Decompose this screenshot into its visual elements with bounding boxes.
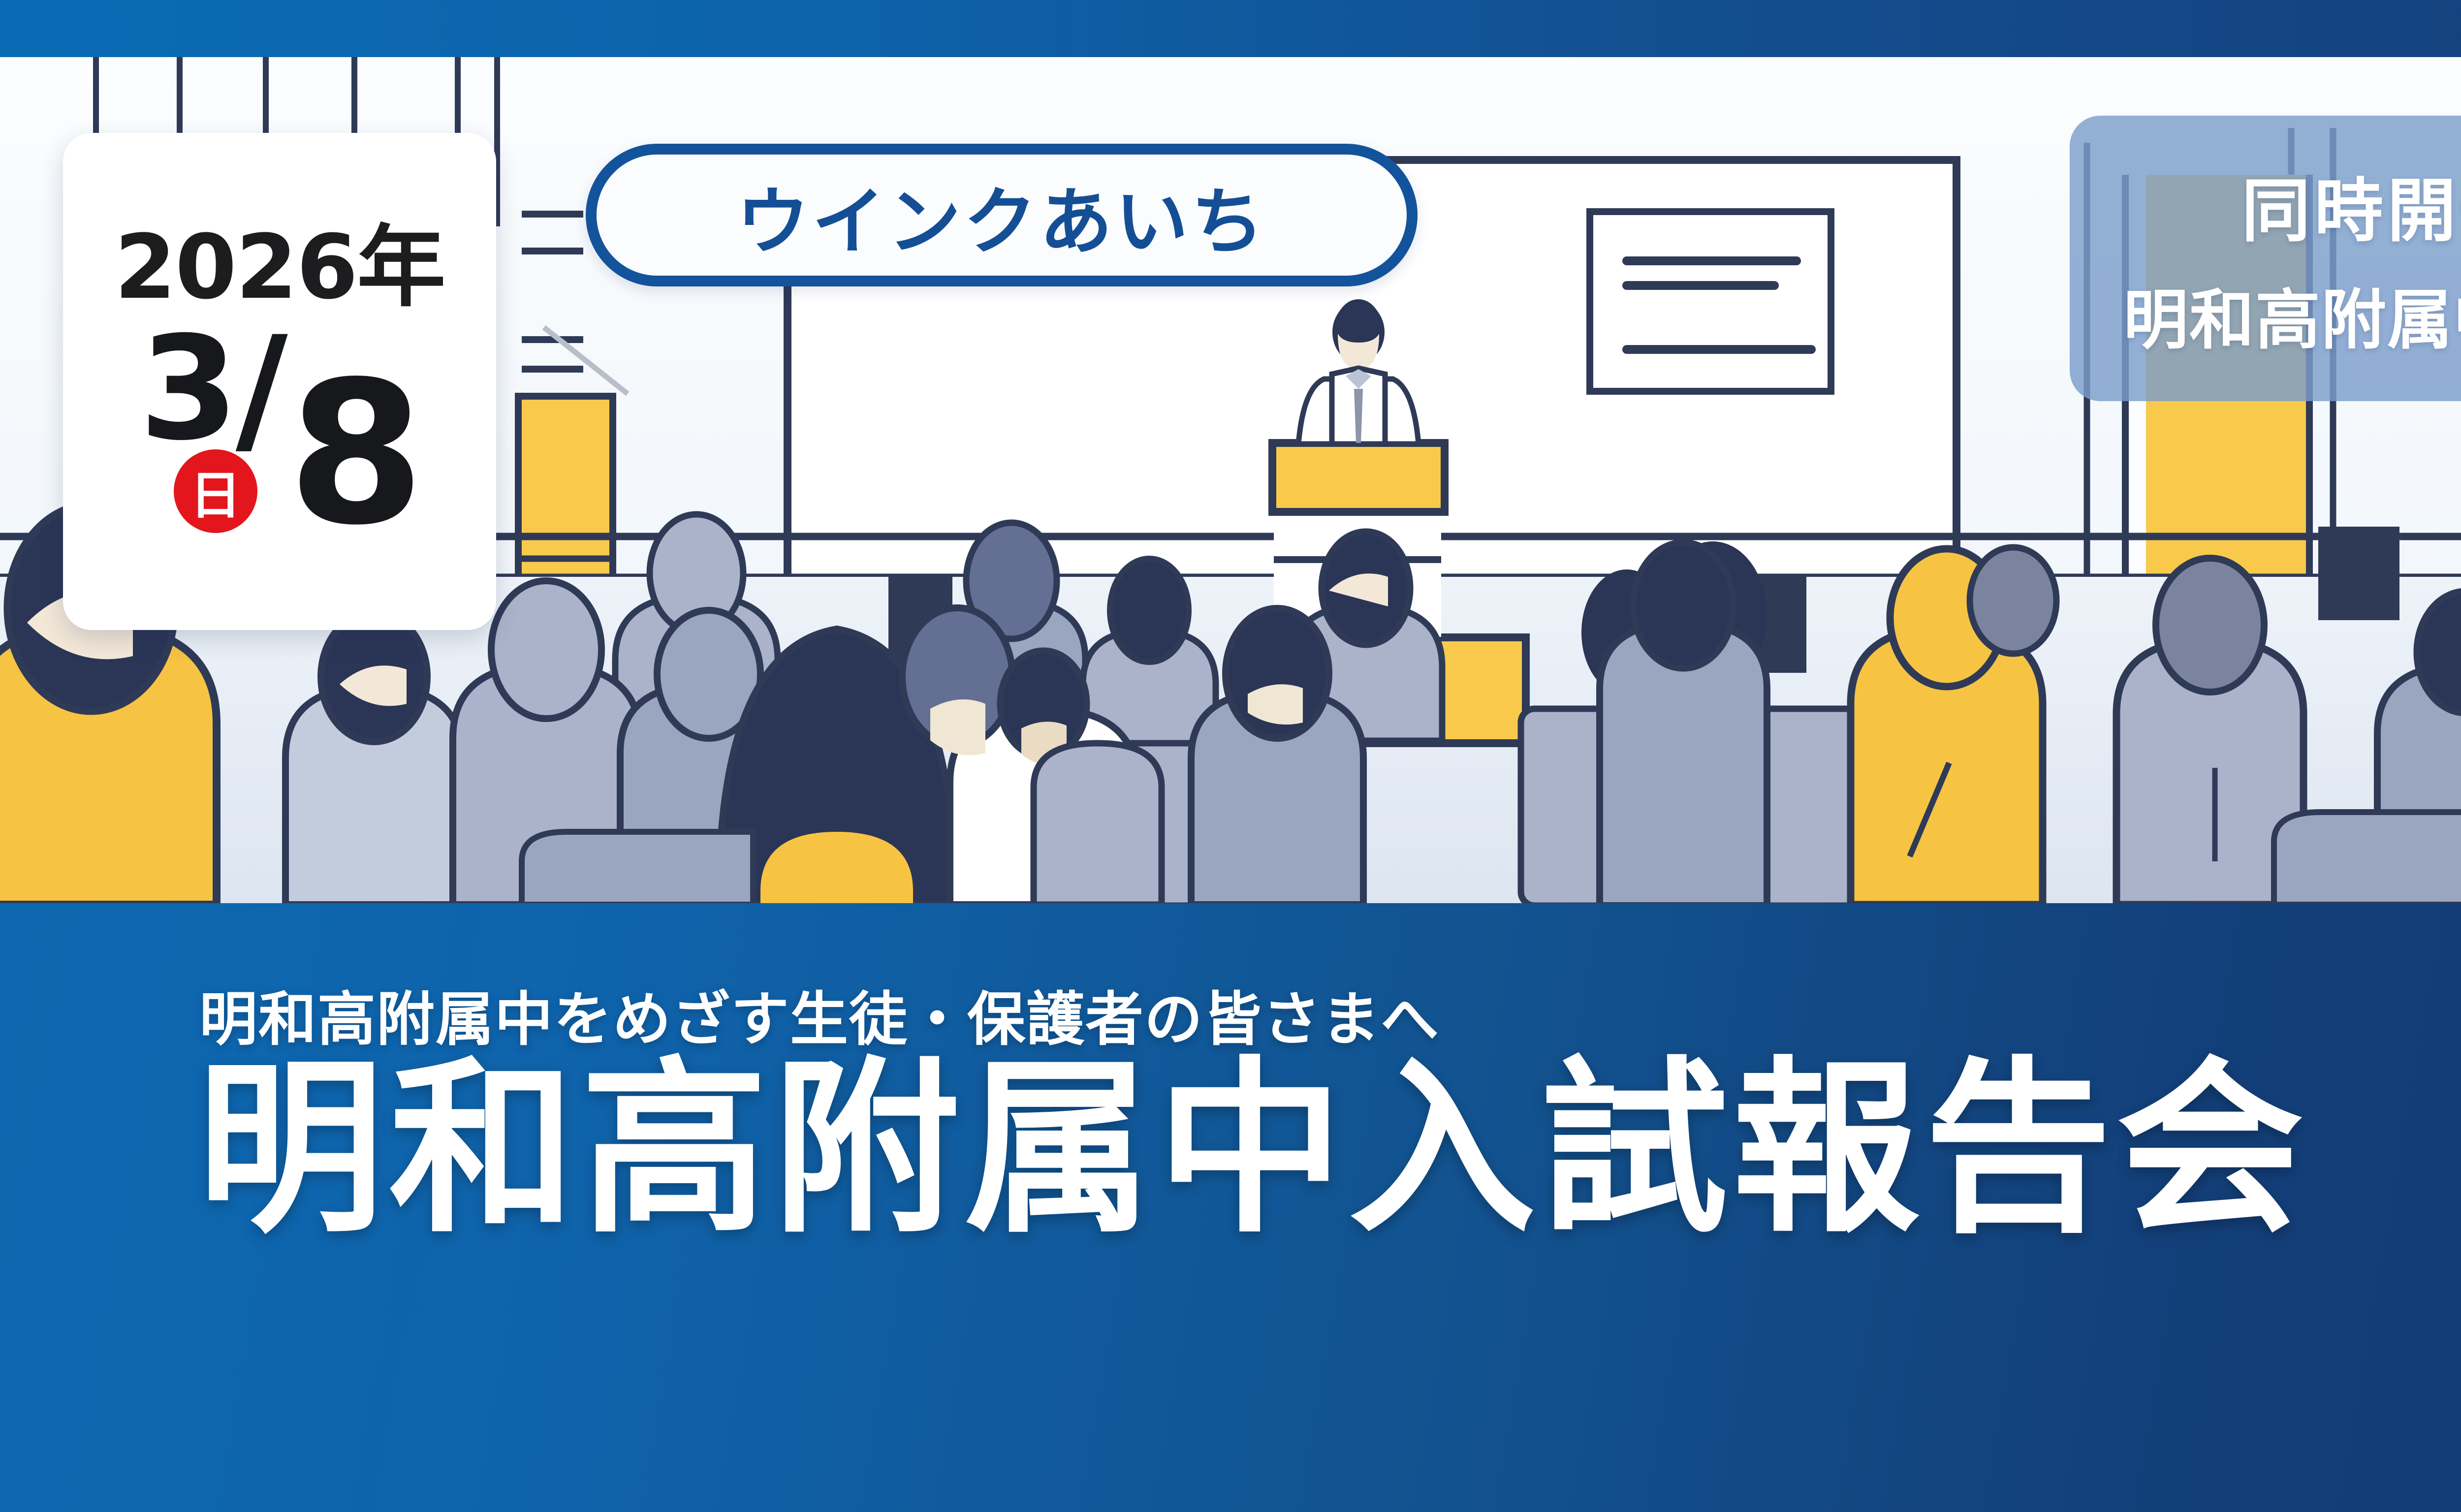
audience-front-center (719, 608, 1363, 905)
poster-frame (1590, 212, 1831, 391)
date-month-slash: 3/ (139, 325, 285, 453)
top-accent-strip (0, 0, 2461, 57)
date-day-of-week-badge: 日 (174, 449, 257, 533)
date-month-wrap: 3/ 日 (139, 325, 285, 535)
venue-label: ウインクあいち (736, 162, 1267, 268)
date-day: 8 (288, 374, 420, 535)
date-year: 2026年 (115, 223, 445, 312)
headline-title: 明和高附属中入試報告会 (197, 1051, 2308, 1247)
event-date-card: 2026年 3/ 日 8 (63, 133, 496, 630)
event-banner: 2026年 3/ 日 8 ウインクあいち 同時開催 明和高附属中模試 明和高附属… (0, 0, 2461, 1512)
venue-badge: ウインクあいち (586, 144, 1418, 286)
speaker-box-far-right (2318, 527, 2399, 620)
simultaneous-badge-line1: 同時開催 (2241, 156, 2461, 255)
headline-band: 明和高附属中をめざす生徒・保護者の皆さまへ 明和高附属中入試報告会 (0, 903, 2461, 1512)
date-month-day-row: 3/ 日 8 (139, 325, 420, 535)
simultaneous-badge-line2: 明和高附属中模試 (2123, 268, 2461, 362)
simultaneous-event-badge: 同時開催 明和高附属中模試 (2070, 116, 2461, 401)
headline-inner: 明和高附属中をめざす生徒・保護者の皆さまへ 明和高附属中入試報告会 (197, 903, 2461, 1512)
